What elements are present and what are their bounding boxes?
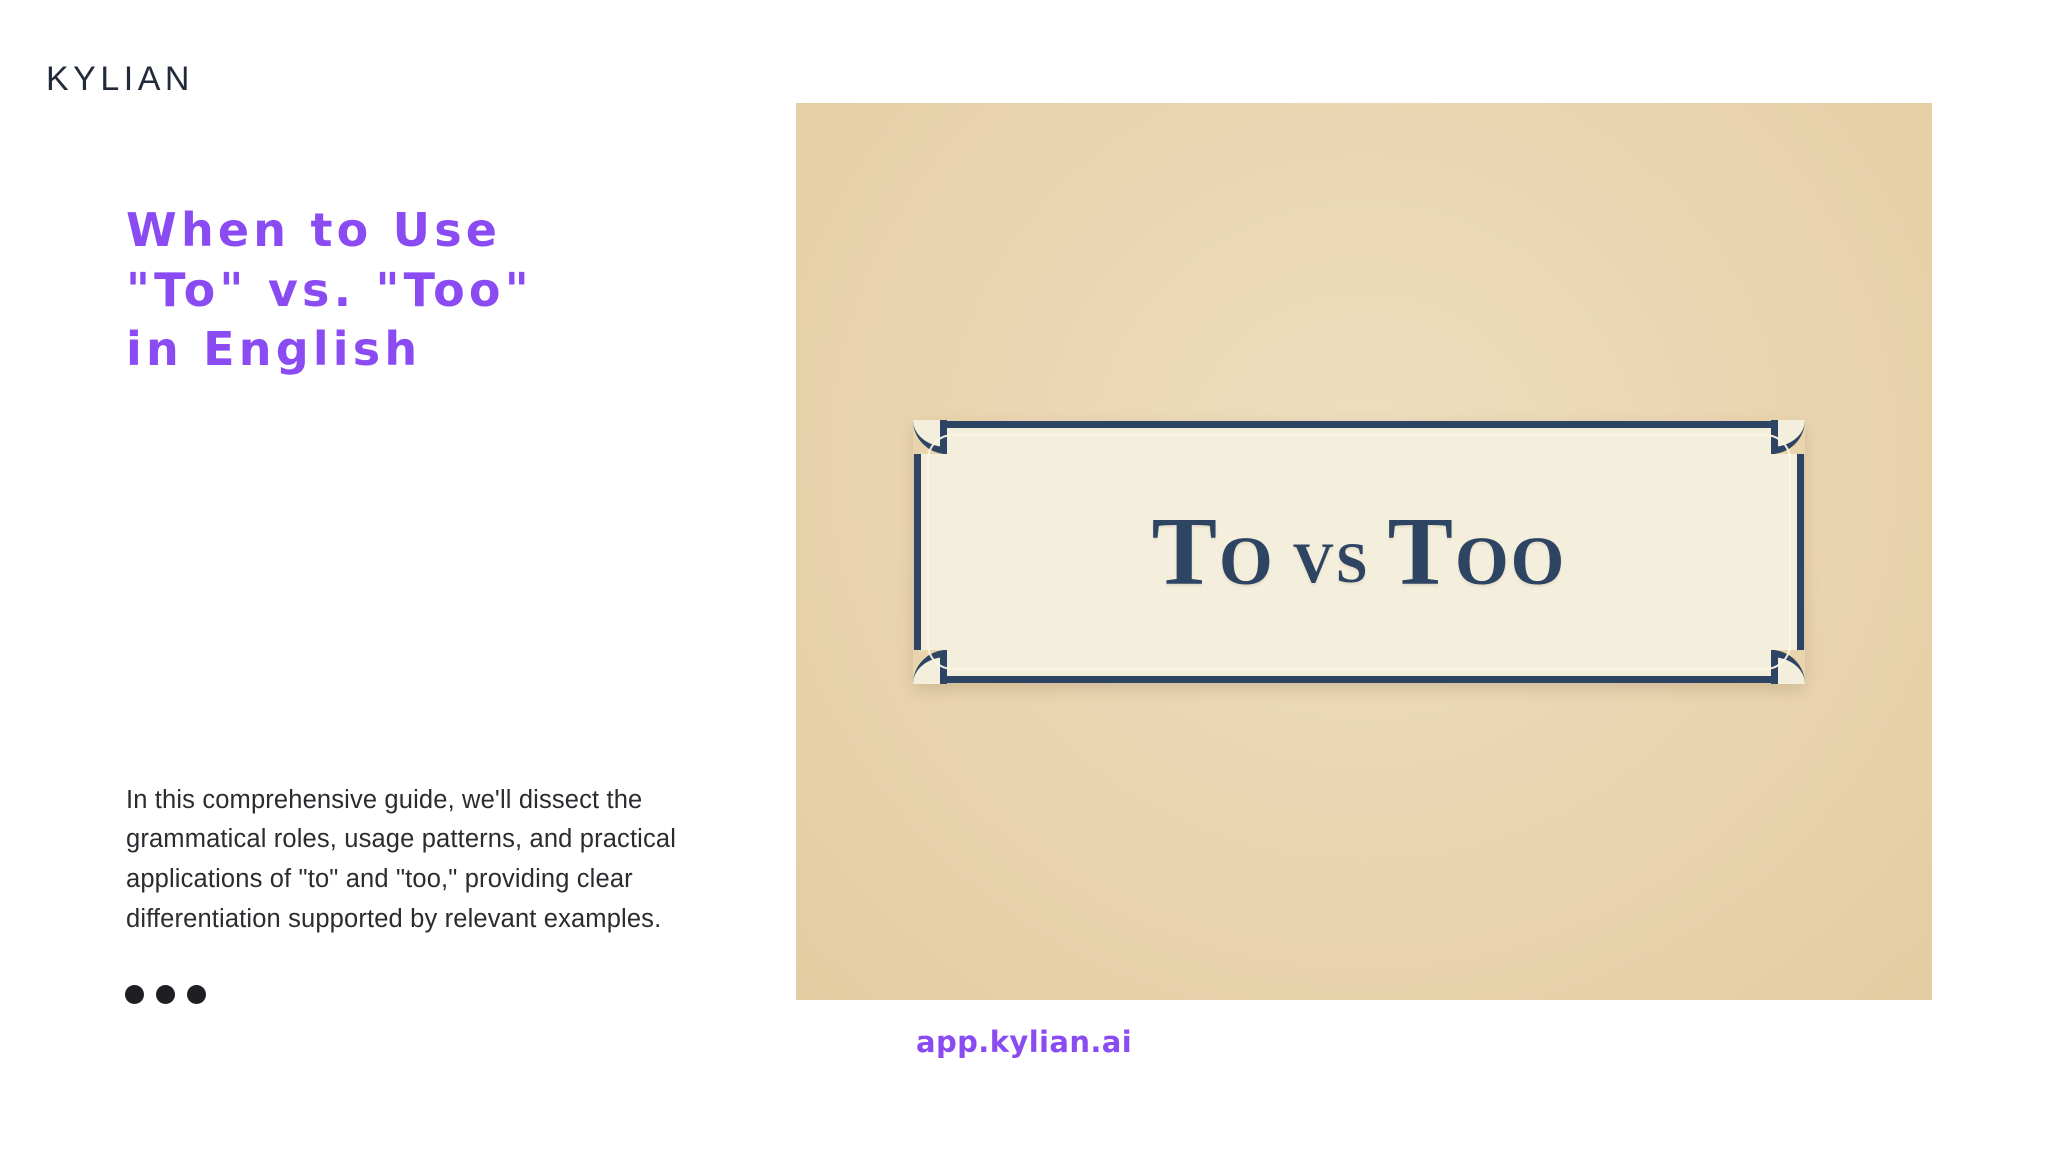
sign-word-to: To: [1152, 496, 1275, 608]
page-title: When to Use "To" vs. "Too" in English: [126, 201, 686, 380]
sign-text: To vs Too: [914, 421, 1804, 683]
site-url[interactable]: app.kylian.ai: [916, 1025, 1132, 1059]
illustration-panel: To vs Too: [796, 103, 1932, 1000]
pagination-dot-1[interactable]: [125, 985, 144, 1004]
pagination-dot-3[interactable]: [187, 985, 206, 1004]
sign-word-vs: vs: [1293, 508, 1370, 602]
pagination-dots: [125, 985, 206, 1004]
pagination-dot-2[interactable]: [156, 985, 175, 1004]
body-paragraph: In this comprehensive guide, we'll disse…: [126, 781, 726, 940]
sign-word-too: Too: [1388, 496, 1567, 608]
brand-logo: KYLIAN: [46, 62, 194, 96]
sign-plaque: To vs Too: [914, 421, 1804, 683]
